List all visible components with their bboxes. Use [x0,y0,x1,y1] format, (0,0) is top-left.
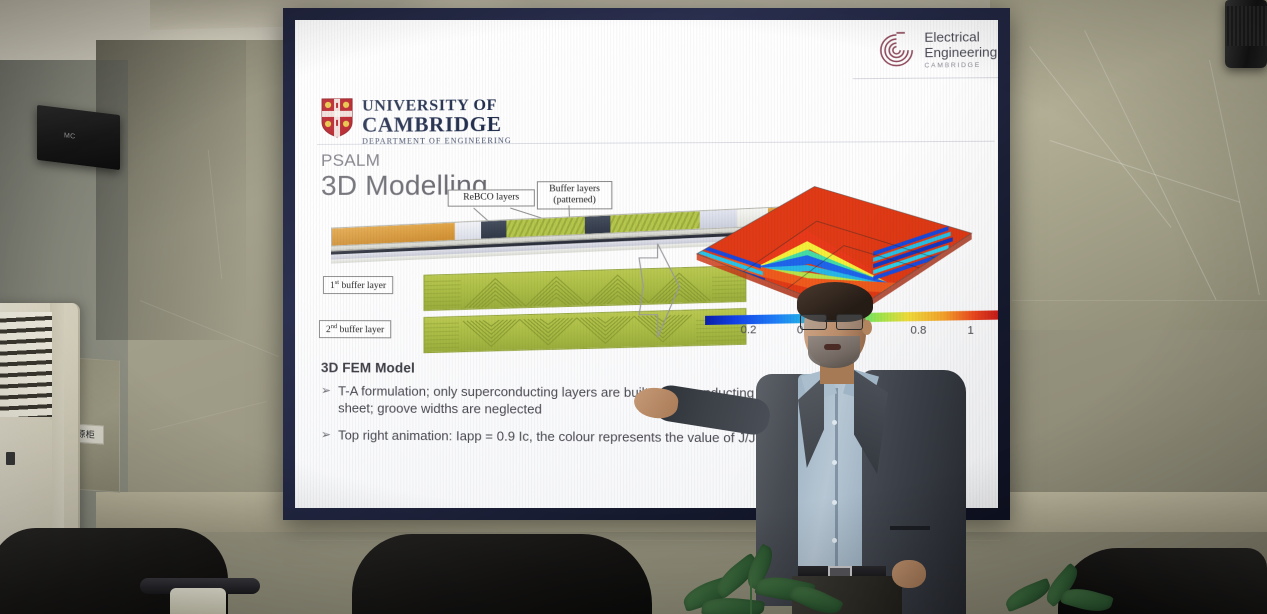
air-conditioner-vent-louvres [0,312,52,417]
presenter-glasses-icon [800,314,866,329]
university-line2: CAMBRIDGE [362,114,512,135]
presenter-mouth [824,344,841,350]
tape-segment-rebco [481,220,507,238]
tape-segment-buffer-patterned [507,217,585,238]
wall-speaker-right [1225,0,1267,68]
tape-segment-silver [455,222,481,240]
university-wordmark: UNIVERSITY OF CAMBRIDGE DEPARTMENT OF EN… [362,97,512,146]
potted-plant-right [1000,572,1130,614]
presenter-shirt-button [832,460,837,465]
bullet-arrow-icon: ➢ [321,427,331,444]
buffer-layer-1-label: 1st buffer layer [323,276,393,294]
presenter-resting-hand [892,560,926,588]
table-lamp [170,588,226,614]
logo-divider [853,77,998,79]
cambridge-crest-icon [321,98,353,138]
university-logo: UNIVERSITY OF CAMBRIDGE DEPARTMENT OF EN… [321,97,512,146]
presenter-shirt-button [832,538,837,543]
speaker-grille [1225,6,1267,46]
fem-model-heading: 3D FEM Model [321,360,415,375]
wall-speaker-left: MC [37,105,120,170]
potted-plant-center [672,556,862,614]
conference-room-photo: MC 电源柜 [0,0,1267,614]
presenter-shirt-button [832,420,837,425]
electrical-engineering-logo: Electrical Engineering CAMBRIDGE [876,30,997,70]
ee-wordmark: Electrical Engineering CAMBRIDGE [924,30,997,70]
bullet-text: Top right animation: Iapp = 0.9 Ic, the … [338,427,762,447]
tape-segment-buffer-patterned [611,211,700,232]
tape-segment-rebco [585,215,611,233]
ee-line1: Electrical [924,30,997,46]
concentric-arcs-icon [876,31,916,70]
bullet-arrow-icon: ➢ [321,382,331,416]
air-conditioner-sensor-icon [6,452,15,465]
callout-buffer-layers: Buffer layers(patterned) [537,181,613,209]
buffer-layer-2-label: 2nd buffer layer [319,320,391,338]
callout-rebco-layers: ReBCO layers [448,189,535,206]
process-arrow-icon [635,242,682,340]
wall-tile-joint [1012,300,1267,301]
presenter-shirt-button [832,500,837,505]
wall-shadow [96,40,246,340]
ee-line2: Engineering [924,45,997,60]
project-name: PSALM [321,151,380,171]
presenter-beard [808,336,860,368]
speaker-brand-label: MC [64,132,76,140]
ee-sub: CAMBRIDGE [924,62,997,70]
chair-back-center [352,534,652,614]
presenter-jacket-pocket [890,526,930,530]
